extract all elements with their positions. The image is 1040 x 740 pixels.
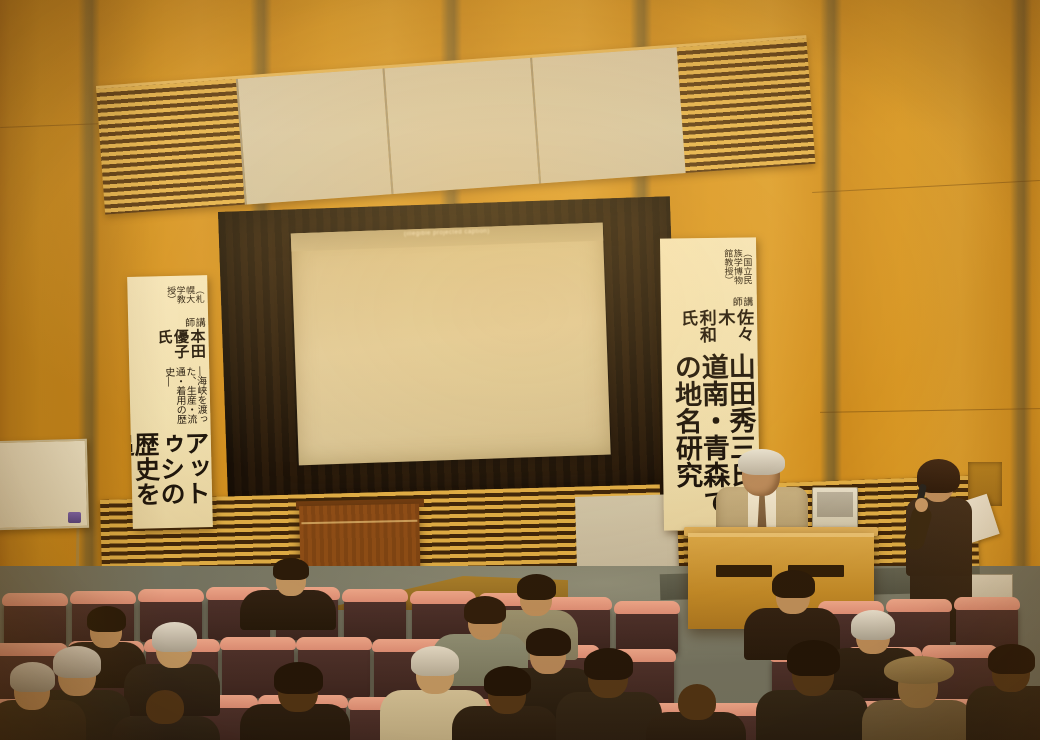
audience-hair [273,558,309,580]
audience-hair-gray [411,646,459,676]
audience-member [756,690,868,740]
banner-left-affiliation: （札幌大学教授） [166,281,204,310]
banner-right-affiliation: （国立民族学博物館教授） [723,244,752,288]
audience-hair-gray [53,646,101,678]
audience-hair-gray [10,662,55,692]
monitor-screen [817,492,853,517]
moderator-hand [915,498,928,512]
banner-right-speaker-label: 講師 [730,289,751,307]
auditorium-seat [616,608,678,654]
banner-left-attus: アットゥシの歴史を追う ―海峡を渡った、生産・流通・着用の歴史― 本田 優子氏 … [127,275,213,529]
auditorium-seat [344,596,406,642]
audience-member [966,686,1040,740]
brimmed-hat [884,656,954,684]
podium-vent [716,565,772,577]
stage-curtain: (illegible projected caption) [218,196,680,512]
banner-right-speaker-name: 佐々木 利和氏 [677,306,752,353]
banner-left-speaker-name: 本田 優子氏 [155,327,205,360]
audience-head [678,684,716,720]
audience-hair [464,596,506,624]
audience-hair [787,640,840,676]
louver-grille [96,79,245,215]
audience-hair [526,628,571,656]
projection-screen: (illegible projected caption) [291,223,611,466]
audience-hair [772,570,815,598]
screen-top-strip [291,223,603,252]
acoustic-panel [383,58,539,194]
acoustic-panel [530,47,686,183]
whiteboard-marker [68,512,81,523]
louver-grille [677,38,816,173]
audience-hair [988,644,1035,674]
banner-left-speaker-label: 講師 [182,309,203,327]
acoustic-panel [236,68,392,204]
auditorium-seat [4,600,66,646]
audience-hair [584,648,633,680]
audience-hair [484,666,531,696]
confidence-monitor [812,487,858,529]
audience-hair-gray [152,622,197,652]
speaker-hair [738,449,785,475]
audience-hair-gray [851,610,895,640]
banner-left-title: アットゥシの歴史を追う [127,430,209,524]
audience-hair [517,574,556,600]
audience-head [146,690,184,724]
lecture-hall-photo: (illegible projected caption) アットゥシの歴史を追… [0,0,1040,740]
audience-member [240,590,336,630]
audience-hair [87,606,126,632]
audience-hair [274,662,323,694]
banner-left-subtitle: ―海峡を渡った、生産・流通・着用の歴史― [162,359,206,431]
